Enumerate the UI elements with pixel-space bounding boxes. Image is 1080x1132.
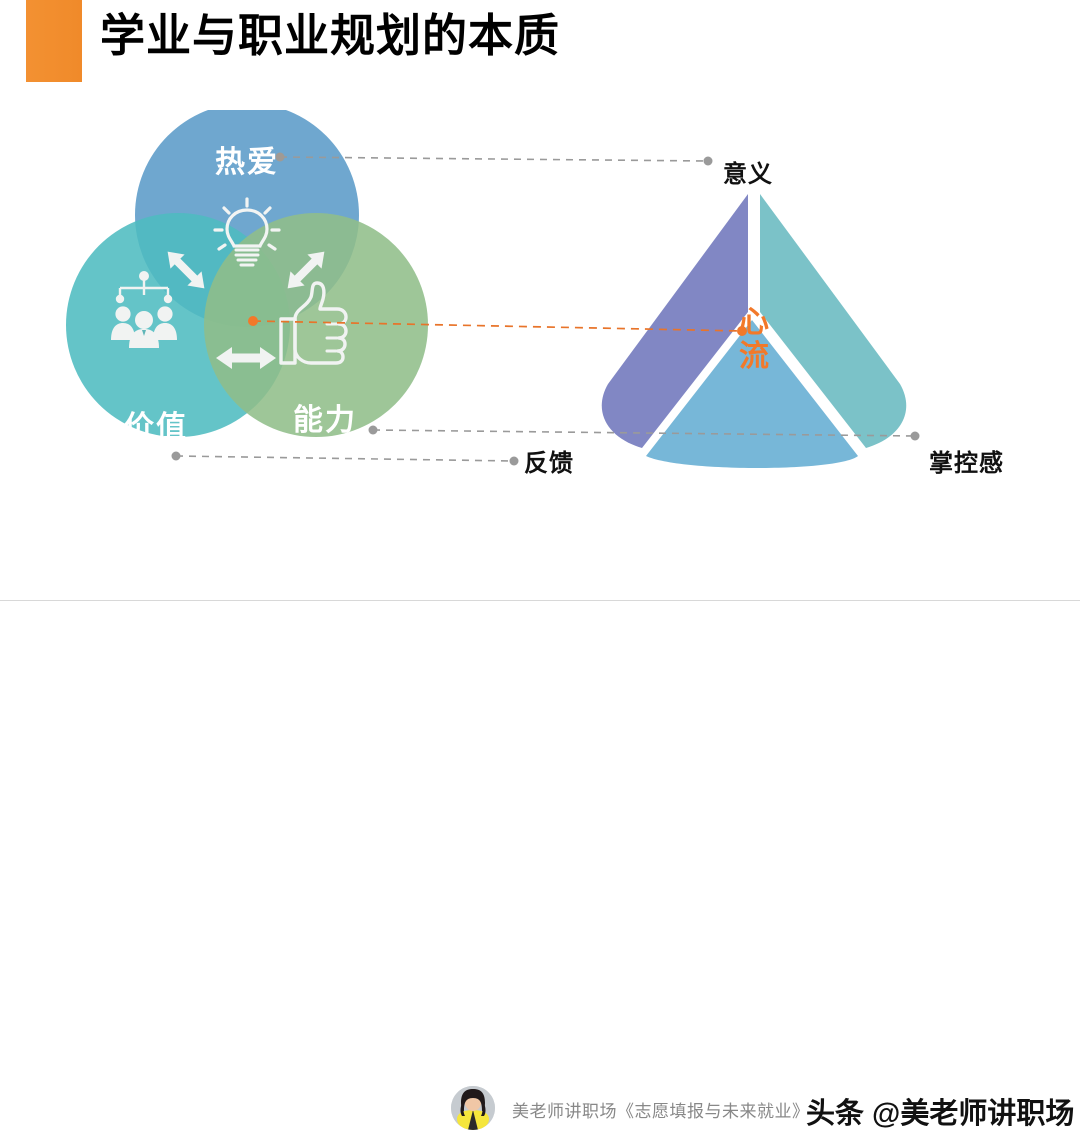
triangle-label-feedback: 反馈 <box>524 443 574 478</box>
venn-label-ability: 能力 <box>293 404 357 437</box>
flow-triangle <box>570 180 1030 480</box>
avatar-image <box>451 1086 495 1130</box>
page-title: 学业与职业规划的本质 <box>100 4 560 68</box>
venn-svg: 热爱 价值 能力 <box>60 110 440 460</box>
flow-center-label: 心流 <box>734 306 774 374</box>
footer-brand: 头条 @美老师讲职场 <box>806 1090 1074 1132</box>
footer: 美老师讲职场《志愿填报与未来就业》 头条 @美老师讲职场 <box>0 540 1080 606</box>
venn-label-passion: 热爱 <box>215 146 279 179</box>
venn-diagram: 热爱 价值 能力 <box>60 110 440 460</box>
triangle-label-control: 掌控感 <box>929 443 1004 478</box>
slide: 学业与职业规划的本质 <box>0 0 1080 606</box>
footer-caption: 美老师讲职场《志愿填报与未来就业》 <box>512 1097 810 1122</box>
title-accent-bar <box>26 0 82 82</box>
avatar <box>451 1086 495 1130</box>
triangle-svg <box>570 180 1030 480</box>
triangle-label-meaning: 意义 <box>723 154 773 189</box>
venn-label-value: 价值 <box>124 411 188 444</box>
footer-divider <box>0 600 1080 601</box>
